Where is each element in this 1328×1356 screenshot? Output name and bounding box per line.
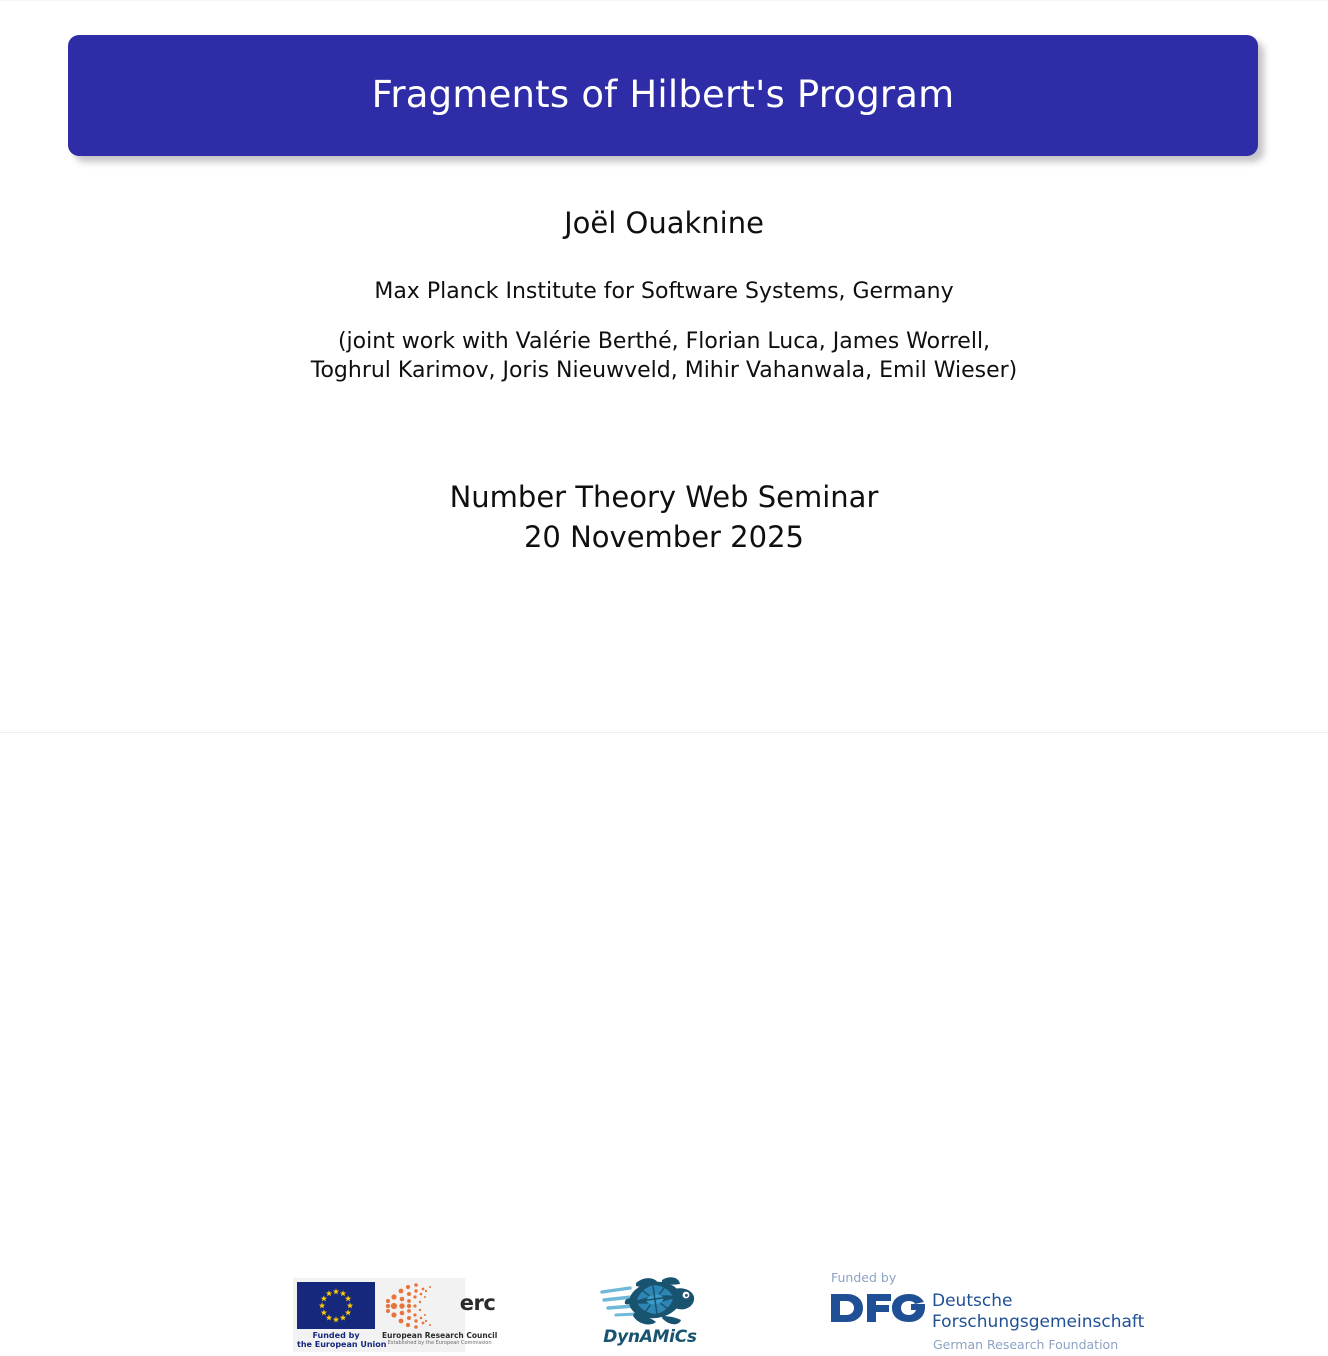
event-block: Number Theory Web Seminar 20 November 20…	[0, 477, 1328, 557]
dynamics-logo: DynAMiCs	[600, 1274, 700, 1356]
joint-work-credits: (joint work with Valérie Berthé, Florian…	[0, 327, 1328, 385]
dfg-wordmark-icon	[831, 1292, 925, 1324]
eu-caption-line-2: the European Union	[297, 1340, 375, 1349]
eu-erc-logo-group: Funded by the European Union	[293, 1278, 465, 1352]
joint-work-line-1: (joint work with Valérie Berthé, Florian…	[0, 327, 1328, 356]
dfg-logo: Funded by Deutsche Forschungsgemeinschaf…	[831, 1272, 1101, 1354]
eu-logo-caption: Funded by the European Union	[297, 1331, 375, 1349]
erc-caption: European Research Council	[382, 1331, 497, 1340]
eu-flag-icon	[297, 1282, 375, 1329]
erc-mark: erc	[382, 1281, 497, 1331]
slide-title-banner: Fragments of Hilbert's Program	[68, 35, 1258, 156]
dfg-funded-by-label: Funded by	[831, 1272, 896, 1285]
erc-wordmark: erc	[460, 1293, 496, 1314]
bottom-hairline	[0, 732, 1328, 733]
author-name: Joël Ouaknine	[0, 205, 1328, 241]
eu-caption-line-1: Funded by	[297, 1331, 375, 1340]
erc-logo: erc European Research Council Establishe…	[379, 1278, 500, 1352]
dfg-name-line-1: Deutsche	[932, 1291, 1144, 1312]
author-affiliation: Max Planck Institute for Software System…	[0, 278, 1328, 307]
funder-logo-row: Funded by the European Union	[0, 634, 1328, 729]
european-union-logo: Funded by the European Union	[293, 1278, 379, 1352]
dynamics-wordmark: DynAMiCs	[600, 1329, 700, 1346]
joint-work-line-2: Toghrul Karimov, Joris Nieuwveld, Mihir …	[0, 356, 1328, 385]
dfg-name-line-2: Forschungsgemeinschaft	[932, 1312, 1144, 1333]
presentation-slide: Fragments of Hilbert's Program Joël Ouak…	[0, 0, 1328, 737]
erc-subcaption: Established by the European Commission	[382, 1340, 497, 1346]
dfg-full-name: Deutsche Forschungsgemeinschaft	[932, 1291, 1144, 1332]
dfg-english-name: German Research Foundation	[933, 1339, 1118, 1352]
slide-title: Fragments of Hilbert's Program	[372, 75, 955, 116]
event-name: Number Theory Web Seminar	[0, 477, 1328, 517]
turtle-icon	[600, 1274, 700, 1332]
event-date: 20 November 2025	[0, 517, 1328, 557]
